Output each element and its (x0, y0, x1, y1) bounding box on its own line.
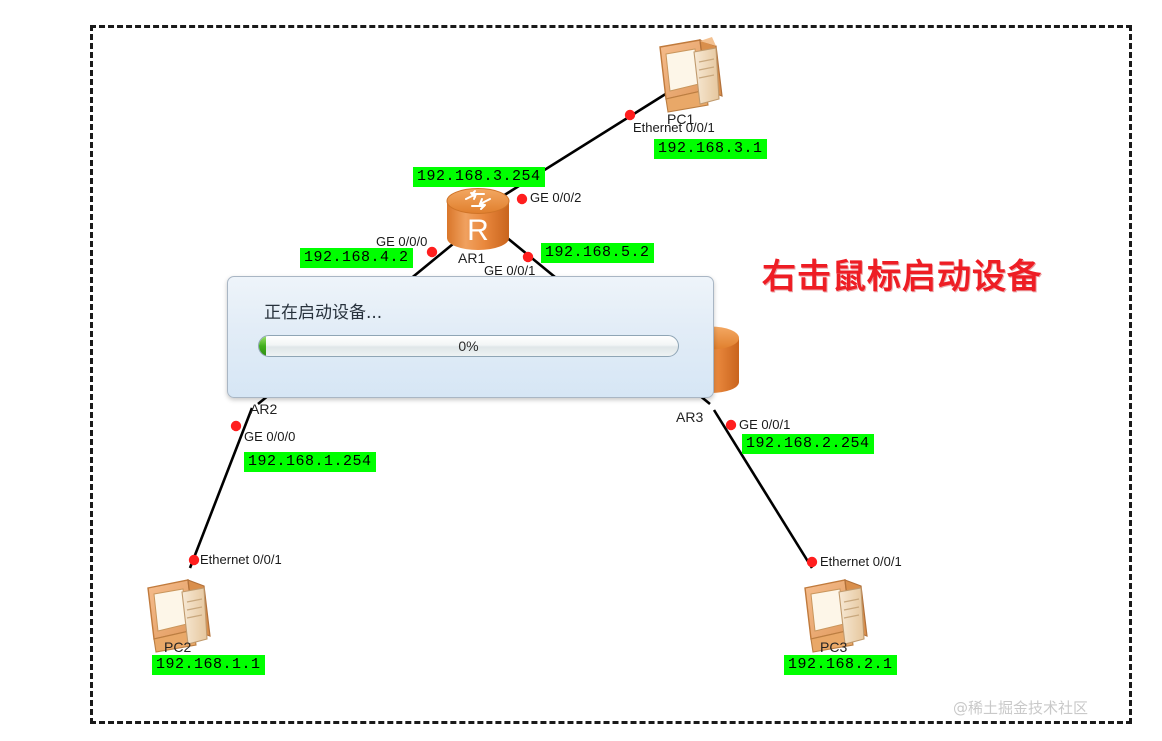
annotation-hint-text: 右击鼠标启动设备 (762, 249, 1042, 298)
watermark-text: @稀土掘金技术社区 (953, 697, 1088, 718)
dot-pc3-eth (807, 557, 817, 567)
dot-ar1-ge001 (523, 252, 533, 262)
dot-ar3-ge001 (726, 420, 736, 430)
ip-tag-ar1-ge000: 192.168.4.2 (300, 248, 413, 268)
startup-progress-dialog[interactable]: 正在启动设备... 0% (227, 276, 714, 398)
dot-pc2-eth (189, 555, 199, 565)
progress-percent-label: 0% (259, 336, 678, 357)
dot-ar1-ge002 (517, 194, 527, 204)
port-label-pc2: Ethernet 0/0/1 (200, 553, 282, 566)
ip-tag-pc2: 192.168.1.1 (152, 655, 265, 675)
device-icon-pc1 (660, 37, 722, 112)
device-label-pc2: PC2 (164, 640, 191, 654)
svg-text:R: R (467, 214, 489, 247)
device-label-ar1: AR1 (458, 251, 485, 265)
ip-tag-pc1: 192.168.3.1 (654, 139, 767, 159)
ip-tag-ar1-ge001: 192.168.5.2 (541, 243, 654, 263)
port-label-ar3-ge001: GE 0/0/1 (739, 418, 790, 431)
dot-ar1-ge000 (427, 247, 437, 257)
port-label-ar1-ge000: GE 0/0/0 (376, 235, 427, 248)
port-label-pc3: Ethernet 0/0/1 (820, 555, 902, 568)
dot-pc1-eth (625, 110, 635, 120)
port-label-ar1-ge002: GE 0/0/2 (530, 191, 581, 204)
ip-tag-ar1-ge002: 192.168.3.254 (413, 167, 545, 187)
ip-tag-pc3: 192.168.2.1 (784, 655, 897, 675)
ip-tag-ar2-ge000: 192.168.1.254 (244, 452, 376, 472)
link-ar2-pc2 (190, 408, 252, 568)
port-label-ar2-ge000: GE 0/0/0 (244, 430, 295, 443)
device-icon-ar1: R (447, 189, 509, 250)
device-label-pc3: PC3 (820, 640, 847, 654)
dot-ar2-ge000 (231, 421, 241, 431)
device-label-ar3: AR3 (676, 410, 703, 424)
progress-bar: 0% (258, 335, 679, 357)
ip-tag-ar3-ge001: 192.168.2.254 (742, 434, 874, 454)
link-ar1-pc1 (487, 90, 672, 206)
topology-canvas: R PC1 AR1 AR2 AR3 PC2 PC3 Ethernet 0/0 (0, 0, 1162, 741)
dialog-message-text: 正在启动设备... (264, 298, 382, 323)
port-label-pc1: Ethernet 0/0/1 (633, 121, 715, 134)
device-label-ar2: AR2 (250, 402, 277, 416)
